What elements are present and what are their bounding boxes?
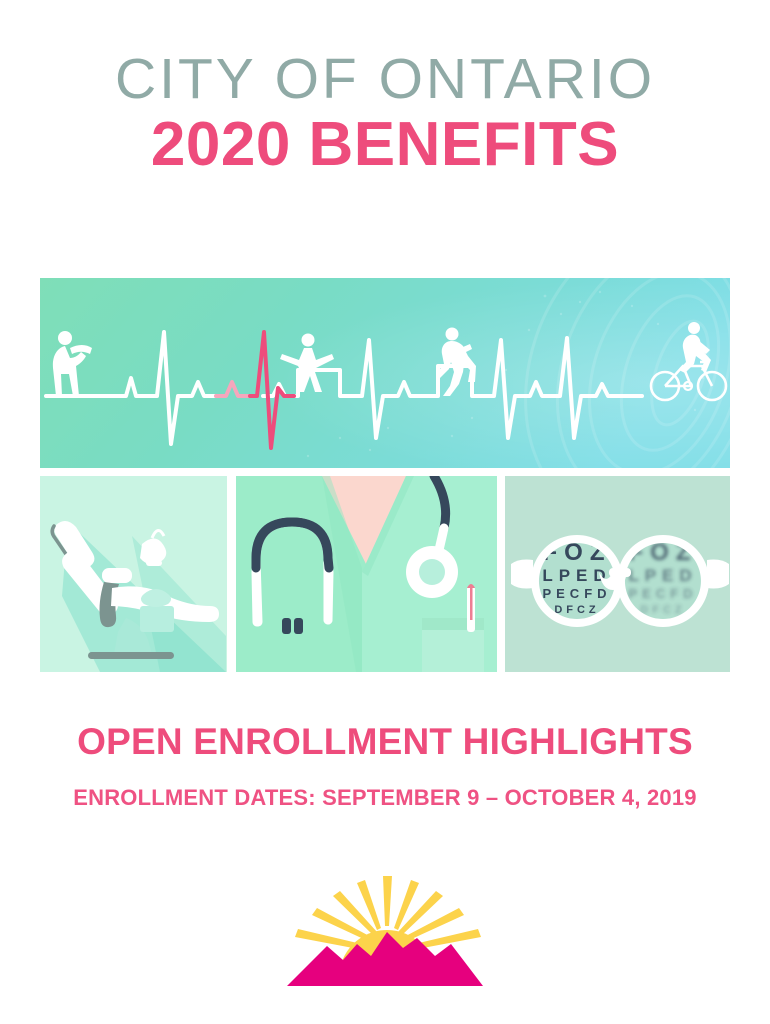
open-enrollment-headline: OPEN ENROLLMENT HIGHLIGHTS	[0, 722, 770, 763]
page-title-city: CITY OF ONTARIO	[0, 52, 770, 106]
svg-text:LPED: LPED	[542, 566, 611, 585]
svg-text:LPED: LPED	[628, 566, 697, 585]
benefit-panels: FOZ LPED PECFD DFCZ FOZ LPED PECFD DFCZ	[40, 476, 730, 672]
poster-header: CITY OF ONTARIO 2020 BENEFITS	[0, 0, 770, 176]
stethoscope-scrubs-icon	[236, 476, 497, 672]
svg-text:DFCZ: DFCZ	[554, 604, 599, 616]
medical-panel	[236, 476, 497, 672]
dental-chair-icon	[40, 476, 227, 672]
benefits-poster: CITY OF ONTARIO 2020 BENEFITS	[0, 0, 770, 1024]
poster-footer: OPEN ENROLLMENT HIGHLIGHTS ENROLLMENT DA…	[0, 722, 770, 811]
wellness-ekg-banner	[40, 278, 730, 468]
stethoscope-chestpiece	[406, 546, 458, 598]
page-title-year: 2020 BENEFITS	[0, 114, 770, 176]
svg-text:DFCZ: DFCZ	[640, 604, 685, 616]
vision-panel: FOZ LPED PECFD DFCZ FOZ LPED PECFD DFCZ	[505, 476, 730, 672]
dental-panel	[40, 476, 227, 672]
city-of-ontario-logo	[285, 874, 485, 986]
enrollment-dates: ENROLLMENT DATES: SEPTEMBER 9 – OCTOBER …	[0, 785, 770, 811]
ekg-illustration	[40, 278, 730, 468]
eyeglasses-eyechart-icon: FOZ LPED PECFD DFCZ FOZ LPED PECFD DFCZ	[505, 476, 730, 672]
svg-text:PECFD: PECFD	[628, 586, 697, 601]
sun-mountain-logo-icon	[285, 874, 485, 986]
svg-text:PECFD: PECFD	[542, 586, 611, 601]
pen-icon	[467, 584, 475, 632]
